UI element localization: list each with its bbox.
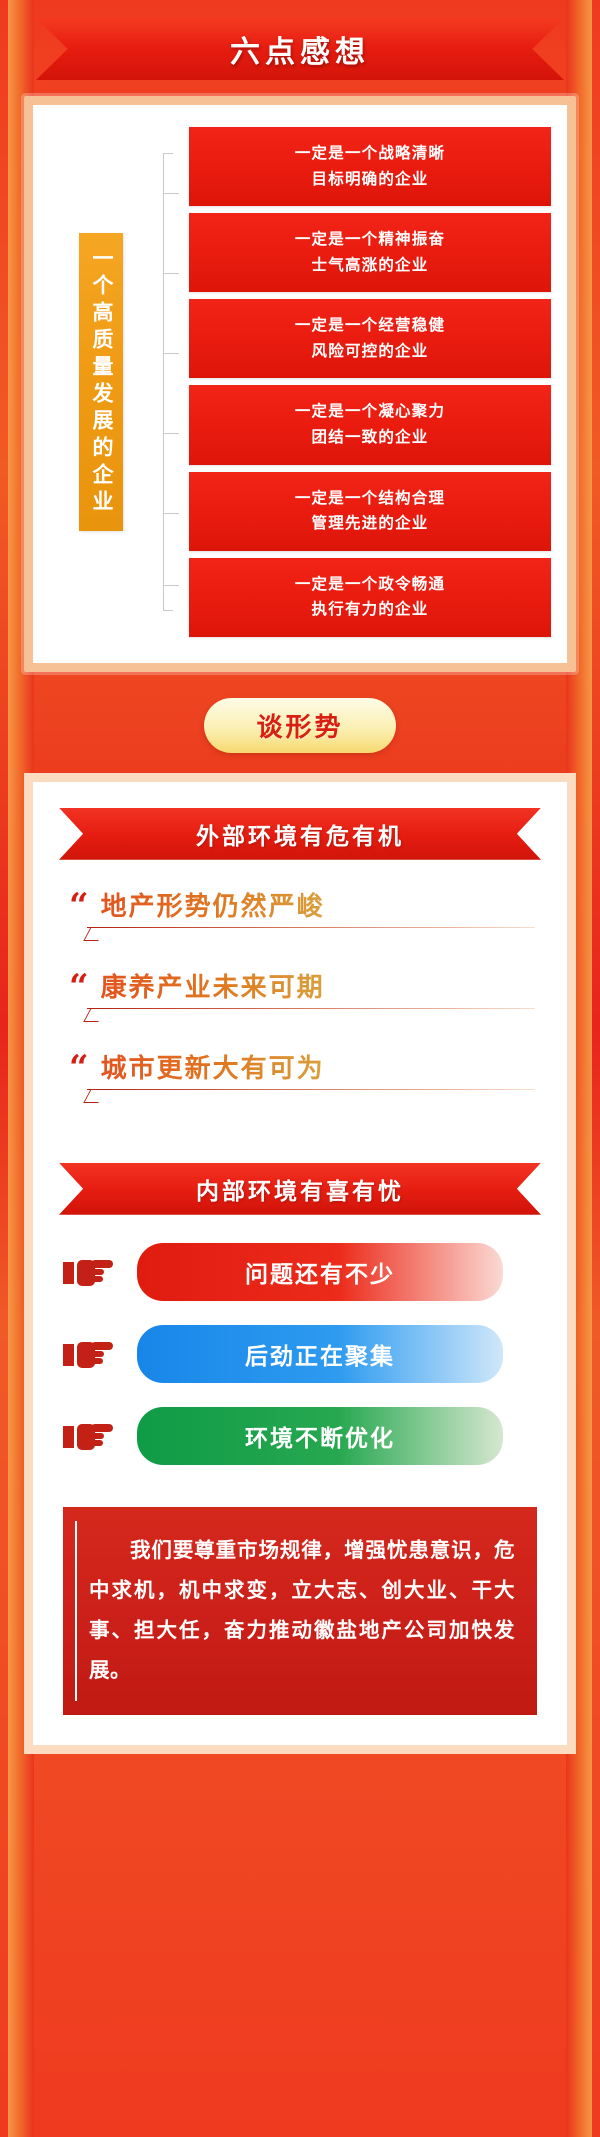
- connector-spine: [163, 153, 164, 611]
- thought-card-line1: 一定是一个经营稳健: [199, 313, 541, 339]
- connector-tick: [163, 585, 179, 586]
- thought-card: 一定是一个结构合理 管理先进的企业: [189, 472, 551, 551]
- section2-badge: 谈形势: [204, 698, 395, 753]
- thought-card-line1: 一定是一个政令畅通: [199, 572, 541, 598]
- thought-card: 一定是一个精神振奋 士气高涨的企业: [189, 213, 551, 292]
- closing-statement-text: 我们要尊重市场规律，增强忧患意识，危中求机，机中求变，立大志、创大业、干大事、担…: [89, 1531, 515, 1691]
- connector-tick: [163, 193, 179, 194]
- infographic-page: 六点感想 一个高质量发展的企业: [0, 0, 600, 2137]
- thought-card-line2: 管理先进的企业: [199, 511, 541, 537]
- thought-card-line2: 风险可控的企业: [199, 339, 541, 365]
- closing-statement-box: 我们要尊重市场规律，增强忧患意识，危中求机，机中求变，立大志、创大业、干大事、担…: [63, 1507, 537, 1715]
- connector-tick: [163, 273, 179, 274]
- quote-item: “ 城市更新大有可为: [69, 1048, 537, 1103]
- quote-text: 城市更新大有可为: [101, 1048, 325, 1085]
- quote-underline: [69, 1008, 537, 1022]
- external-quote-list: “ 地产形势仍然严峻 “ 康养产业未来可期 “ 城市更新大有可为: [53, 872, 547, 1135]
- quote-text: 康养产业未来可期: [101, 967, 325, 1004]
- section2-panel: 外部环境有危有机 “ 地产形势仍然严峻 “ 康养产业未来可期: [24, 773, 576, 1754]
- thought-card-line2: 团结一致的企业: [199, 425, 541, 451]
- quote-item: “ 地产形势仍然严峻: [69, 886, 537, 941]
- section1-title-ribbon: 六点感想: [36, 18, 564, 80]
- connector-tick: [163, 513, 179, 514]
- tree-connector: [153, 127, 189, 637]
- quote-mark-icon: “: [69, 1051, 89, 1082]
- thought-card-line1: 一定是一个战略清晰: [199, 141, 541, 167]
- thought-card-line1: 一定是一个凝心聚力: [199, 399, 541, 425]
- thought-card-line1: 一定是一个结构合理: [199, 486, 541, 512]
- internal-tag-pill: 后劲正在聚集: [137, 1325, 503, 1383]
- thought-card: 一定是一个战略清晰 目标明确的企业: [189, 127, 551, 206]
- section1-title: 六点感想: [230, 27, 370, 71]
- pointing-hand-icon: [63, 1252, 121, 1292]
- quote-mark-icon: “: [69, 970, 89, 1001]
- section1-body: 一个高质量发展的企业 一定是一个战略清晰 目标明确的企业: [33, 105, 567, 663]
- vertical-label-column: 一个高质量发展的企业: [49, 127, 153, 637]
- thought-card: 一定是一个凝心聚力 团结一致的企业: [189, 385, 551, 464]
- section-six-thoughts: 六点感想 一个高质量发展的企业: [0, 0, 600, 672]
- internal-banner: 内部环境有喜有忧: [59, 1163, 541, 1215]
- quote-underline: [69, 1089, 537, 1103]
- section2-badge-label: 谈形势: [256, 712, 343, 742]
- section2-badge-wrap: 谈形势: [0, 672, 600, 773]
- internal-tag-row: 问题还有不少: [63, 1243, 541, 1301]
- thought-card-line2: 目标明确的企业: [199, 167, 541, 193]
- thought-card-line2: 士气高涨的企业: [199, 253, 541, 279]
- internal-banner-label: 内部环境有喜有忧: [196, 1172, 404, 1206]
- pointing-hand-icon: [63, 1334, 121, 1374]
- vertical-label-bar: 一个高质量发展的企业: [79, 233, 123, 531]
- internal-tag-row: 环境不断优化: [63, 1407, 541, 1465]
- connector-tick: [163, 353, 179, 354]
- quote-item: “ 康养产业未来可期: [69, 967, 537, 1022]
- quote-underline: [69, 927, 537, 941]
- thought-card-line2: 执行有力的企业: [199, 597, 541, 623]
- quote-text: 地产形势仍然严峻: [101, 886, 325, 923]
- thought-card: 一定是一个经营稳健 风险可控的企业: [189, 299, 551, 378]
- section1-panel: 一个高质量发展的企业 一定是一个战略清晰 目标明确的企业: [24, 96, 576, 672]
- internal-tag-pill: 问题还有不少: [137, 1243, 503, 1301]
- internal-tag-pill: 环境不断优化: [137, 1407, 503, 1465]
- section1-header-wrap: 六点感想: [0, 0, 600, 80]
- external-banner-label: 外部环境有危有机: [196, 817, 404, 851]
- quote-mark-icon: “: [69, 889, 89, 920]
- thought-card: 一定是一个政令畅通 执行有力的企业: [189, 558, 551, 637]
- external-banner: 外部环境有危有机: [59, 808, 541, 860]
- internal-tag-list: 问题还有不少 后劲正在聚集: [53, 1227, 547, 1493]
- pointing-hand-icon: [63, 1416, 121, 1456]
- section-situation: 谈形势 外部环境有危有机 “ 地产形势仍然严峻 “: [0, 672, 600, 1754]
- connector-tick: [163, 433, 179, 434]
- thought-card-line1: 一定是一个精神振奋: [199, 227, 541, 253]
- thought-card-list: 一定是一个战略清晰 目标明确的企业 一定是一个精神振奋 士气高涨的企业 一定是一…: [189, 127, 551, 637]
- internal-tag-row: 后劲正在聚集: [63, 1325, 541, 1383]
